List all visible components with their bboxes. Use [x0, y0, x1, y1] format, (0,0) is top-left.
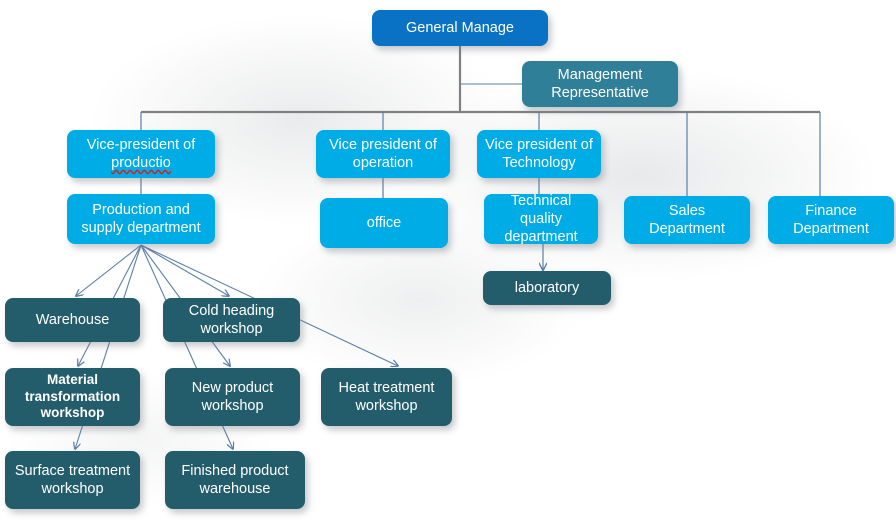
node-label-line1: Vice president of — [329, 137, 437, 153]
node-label-line1: Vice-president of — [87, 137, 196, 153]
node-label-line2: department — [504, 229, 577, 245]
node-label-line2: Department — [649, 221, 725, 237]
node-label-line1: Finance — [805, 203, 857, 219]
node-label-line2: workshop — [201, 398, 263, 414]
node-label-line2: operation — [353, 155, 413, 171]
node-warehouse[interactable]: Warehouse — [5, 298, 140, 342]
node-label-line2: workshop — [41, 405, 105, 420]
node-label-line2: Representative — [551, 85, 649, 101]
node-label-line1: Finished product — [181, 463, 288, 479]
node-label-line1: Material transformation — [25, 372, 120, 404]
node-office[interactable]: office — [320, 198, 448, 248]
node-label: Finance Department — [793, 202, 869, 238]
edge-production-supply-to-warehouse — [76, 245, 141, 296]
node-label-line2-misspelled: productio — [111, 155, 171, 171]
node-finance-department[interactable]: Finance Department — [768, 196, 894, 244]
node-label: Material transformation workshop — [11, 372, 134, 423]
node-label: Finished product warehouse — [181, 462, 288, 498]
node-label: Heat treatment workshop — [339, 379, 435, 415]
node-label-line2: warehouse — [200, 481, 271, 497]
node-label-line1: Technical quality — [511, 193, 571, 227]
node-finished-product-warehouse[interactable]: Finished product warehouse — [165, 451, 305, 509]
node-general-manager[interactable]: General Manage — [372, 10, 548, 46]
node-label-line2: Department — [793, 221, 869, 237]
node-material-transformation-workshop[interactable]: Material transformation workshop — [5, 368, 140, 426]
node-label-line2: workshop — [200, 321, 262, 337]
node-label: laboratory — [515, 279, 579, 297]
edge-production-supply-to-cold-heading-workshop — [141, 245, 229, 296]
node-label: Vice-president of productio — [87, 136, 196, 172]
node-vice-president-production[interactable]: Vice-president of productio — [67, 130, 215, 178]
node-label-line1: New product — [192, 380, 273, 396]
node-label-line1: Surface treatment — [15, 463, 130, 479]
node-label: General Manage — [406, 19, 514, 37]
node-label-line1: Cold heading — [189, 303, 274, 319]
node-vice-president-technology[interactable]: Vice president of Technology — [477, 130, 601, 178]
node-label: Management Representative — [551, 66, 649, 102]
node-heat-treatment-workshop[interactable]: Heat treatment workshop — [321, 368, 452, 426]
node-technical-quality-department[interactable]: Technical quality department — [484, 194, 598, 244]
node-label-line1: Vice president of — [485, 137, 593, 153]
background-gradient-wash — [0, 0, 896, 522]
node-management-representative[interactable]: Management Representative — [522, 61, 678, 107]
node-label-line1: Heat treatment — [339, 380, 435, 396]
node-production-supply-department[interactable]: Production and supply department — [67, 194, 215, 244]
node-label: office — [367, 214, 401, 232]
node-label: Cold heading workshop — [189, 302, 274, 338]
node-label-line2: Technology — [502, 155, 575, 171]
org-chart-canvas: General Manage Management Representative… — [0, 0, 896, 522]
node-cold-heading-workshop[interactable]: Cold heading workshop — [163, 298, 300, 342]
node-label: Vice president of operation — [329, 136, 437, 172]
node-label: Surface treatment workshop — [15, 462, 130, 498]
node-label-line1: Management — [558, 67, 643, 83]
node-label: Warehouse — [36, 311, 110, 329]
node-sales-department[interactable]: Sales Department — [624, 196, 750, 244]
node-label: Technical quality department — [490, 192, 592, 246]
node-label: Production and supply department — [81, 201, 200, 237]
node-surface-treatment-workshop[interactable]: Surface treatment workshop — [5, 451, 140, 509]
node-label: New product workshop — [192, 379, 273, 415]
node-label: Sales Department — [649, 202, 725, 238]
node-label-line1: Sales — [669, 203, 705, 219]
node-label-line2: workshop — [355, 398, 417, 414]
node-vice-president-operation[interactable]: Vice president of operation — [316, 130, 450, 178]
node-label-line2: workshop — [41, 481, 103, 497]
node-label-line2: supply department — [81, 220, 200, 236]
node-laboratory[interactable]: laboratory — [483, 271, 611, 305]
node-label: Vice president of Technology — [485, 136, 593, 172]
node-new-product-workshop[interactable]: New product workshop — [165, 368, 300, 426]
connector-lines — [0, 0, 896, 522]
node-label-line1: Production and — [92, 202, 190, 218]
